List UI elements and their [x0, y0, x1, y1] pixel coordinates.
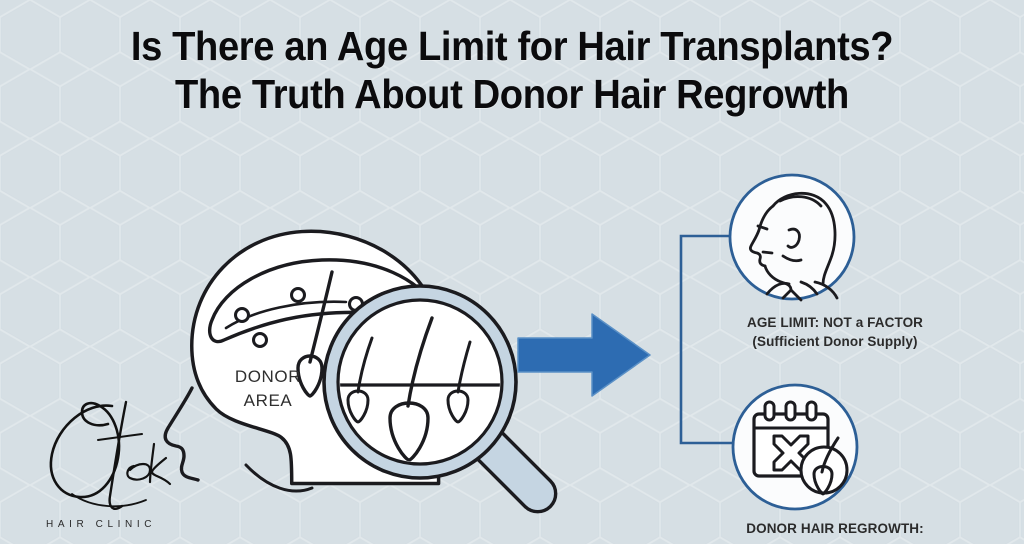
outcome-label-donor-regrowth-line1: DONOR HAIR REGROWTH: [660, 519, 1010, 538]
donor-area-label-line1: DONOR [235, 367, 301, 386]
calendar-x-follicle-icon [730, 382, 860, 512]
outcome-label-age-limit-line2: (Sufficient Donor Supply) [660, 332, 1010, 351]
page-title: Is There an Age Limit for Hair Transplan… [0, 22, 1024, 118]
clinic-logo-wordmark [42, 392, 202, 522]
outcome-label-age-limit-line1: AGE LIMIT: NOT a FACTOR [660, 313, 1010, 332]
flow-arrow-icon [516, 310, 652, 400]
outcome-label-age-limit: AGE LIMIT: NOT a FACTOR (Sufficient Dono… [660, 313, 1010, 351]
outcome-label-donor-regrowth: DONOR HAIR REGROWTH: [660, 519, 1010, 538]
infographic-canvas: Is There an Age Limit for Hair Transplan… [0, 0, 1024, 544]
clinic-logo-tagline: HAIR CLINIC [46, 519, 206, 530]
title-line-2: The Truth About Donor Hair Regrowth [36, 70, 988, 118]
donor-area-label-line2: AREA [244, 391, 293, 410]
title-line-1: Is There an Age Limit for Hair Transplan… [36, 22, 988, 70]
head-donor-area-illustration: DONOR AREA [150, 210, 570, 540]
older-man-profile-icon [727, 172, 857, 302]
